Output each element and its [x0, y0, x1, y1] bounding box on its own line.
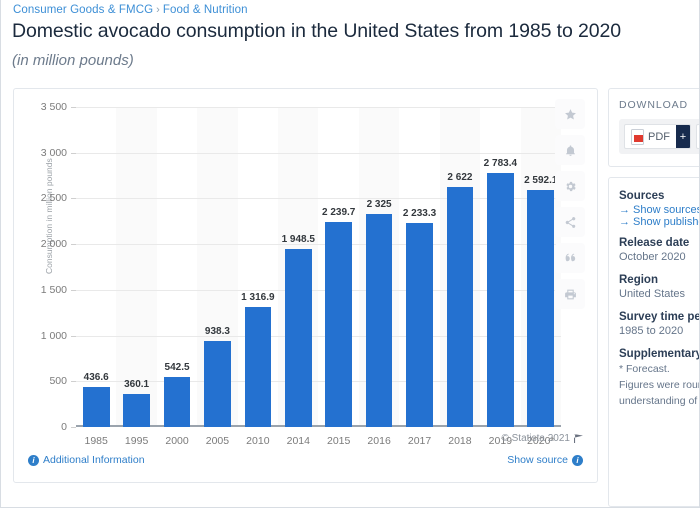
x-axis-tick: 2018: [448, 435, 471, 447]
region-heading: Region: [619, 274, 700, 286]
bar-value-label: 2 325: [367, 199, 392, 210]
download-card: DOWNLOAD PDF + XLS +: [608, 88, 700, 167]
bar-value-label: 2 622: [447, 172, 472, 183]
bar-column[interactable]: 2 3252016: [366, 214, 393, 427]
bar[interactable]: [245, 307, 272, 427]
x-axis-tick: 2010: [246, 435, 269, 447]
print-icon[interactable]: [555, 279, 585, 309]
bar-column[interactable]: 542.52000: [164, 377, 191, 427]
download-pdf-label: PDF: [648, 131, 670, 143]
bar-value-label: 2 783.4: [484, 158, 517, 169]
bar[interactable]: [527, 190, 554, 427]
gear-icon[interactable]: [555, 171, 585, 201]
y-axis-tick-mark: [71, 427, 76, 428]
bar-value-label: 2 239.7: [322, 207, 355, 218]
download-pdf-more[interactable]: +: [676, 125, 690, 148]
y-axis-tick: 3 000: [41, 147, 67, 159]
release-date-value: October 2020: [619, 251, 700, 263]
bar-column[interactable]: 2 783.42019: [487, 173, 514, 427]
supplementary-heading: Supplementary notes: [619, 348, 700, 360]
y-axis-tick: 1 000: [41, 330, 67, 342]
bar-column[interactable]: 2 239.72015: [325, 222, 352, 427]
pdf-file-icon: [631, 129, 644, 145]
breadcrumb-item-1[interactable]: Food & Nutrition: [163, 4, 248, 16]
arrow-right-icon-2: →: [619, 216, 630, 228]
bar-value-label: 360.1: [124, 379, 149, 390]
bar[interactable]: [285, 249, 312, 427]
y-axis-tick: 0: [61, 421, 67, 433]
show-source-label: Show source: [507, 454, 568, 466]
supplementary-line-1: Figures were rounded for a better: [619, 378, 700, 394]
y-axis-tick: 2 500: [41, 192, 67, 204]
bar[interactable]: [83, 387, 110, 427]
show-source-link[interactable]: Show source i: [507, 454, 583, 466]
x-axis-tick: 2015: [327, 435, 350, 447]
breadcrumb-item-0[interactable]: Consumer Goods & FMCG: [13, 4, 153, 16]
bar-value-label: 938.3: [205, 326, 230, 337]
bar[interactable]: [487, 173, 514, 427]
show-publisher-label: Show publisher: [633, 216, 700, 228]
additional-information-label: Additional Information: [43, 454, 145, 466]
bar-value-label: 436.6: [84, 372, 109, 383]
bar-value-label: 2 592.1: [524, 175, 557, 186]
page-subtitle: (in million pounds): [12, 52, 134, 69]
bar[interactable]: [406, 223, 433, 427]
y-axis-tick: 1 500: [41, 284, 67, 296]
supplementary-line-2: understanding of the statistic.: [619, 394, 700, 410]
star-icon[interactable]: [555, 99, 585, 129]
survey-period-heading: Survey time period: [619, 311, 700, 323]
page-title: Domestic avocado consumption in the Unit…: [12, 20, 621, 43]
y-axis-tick: 500: [49, 375, 67, 387]
bar[interactable]: [366, 214, 393, 427]
flag-icon: [574, 434, 583, 443]
release-date-heading: Release date: [619, 237, 700, 249]
supplementary-line-0: * Forecast.: [619, 362, 700, 378]
bar-series: 436.61985360.11995542.52000938.320051 31…: [76, 107, 561, 427]
bar[interactable]: [123, 394, 150, 427]
info-icon-source: i: [572, 455, 583, 466]
y-axis-tick: 2 000: [41, 238, 67, 250]
x-axis-tick: 1985: [85, 435, 108, 447]
bar-column[interactable]: 436.61985: [83, 387, 110, 427]
download-xls-button[interactable]: XLS +: [696, 124, 700, 149]
bar-column[interactable]: 360.11995: [123, 394, 150, 427]
copyright-text: © Statista 2021: [501, 433, 570, 444]
bar-value-label: 542.5: [165, 362, 190, 373]
info-icon: i: [28, 455, 39, 466]
x-axis-tick: 2017: [408, 435, 431, 447]
statista-copyright: © Statista 2021: [501, 433, 583, 444]
quote-icon[interactable]: [555, 243, 585, 273]
x-axis-tick: 2014: [287, 435, 310, 447]
show-sources-link[interactable]: →Show sources: [619, 204, 700, 216]
bar-column[interactable]: 938.32005: [204, 341, 231, 427]
bar-column[interactable]: 2 592.12020*: [527, 190, 554, 427]
x-axis-tick: 1995: [125, 435, 148, 447]
bar-column[interactable]: 1 948.52014: [285, 249, 312, 427]
y-axis-tick: 3 500: [41, 101, 67, 113]
download-buttons: PDF + XLS +: [619, 119, 700, 154]
x-axis-tick: 2000: [165, 435, 188, 447]
breadcrumb: Consumer Goods & FMCG›Food & Nutrition: [13, 4, 248, 16]
share-icon[interactable]: [555, 207, 585, 237]
download-pdf-button[interactable]: PDF +: [624, 124, 691, 149]
sources-heading: Sources: [619, 190, 700, 202]
bar-value-label: 2 233.3: [403, 208, 436, 219]
survey-period-value: 1985 to 2020: [619, 325, 700, 337]
plot-area: 05001 0001 5002 0002 5003 0003 500 436.6…: [76, 107, 561, 427]
additional-information-link[interactable]: i Additional Information: [28, 454, 145, 466]
chart-tool-rail: [555, 99, 589, 315]
x-axis-tick: 2016: [367, 435, 390, 447]
bar-column[interactable]: 1 316.92010: [245, 307, 272, 427]
breadcrumb-separator: ›: [156, 4, 160, 16]
arrow-right-icon: →: [619, 204, 630, 216]
bar-value-label: 1 948.5: [282, 234, 315, 245]
bar-column[interactable]: 2 6222018: [447, 187, 474, 427]
y-axis-label: Consumption in million pounds: [44, 158, 54, 274]
bar-value-label: 1 316.9: [241, 292, 274, 303]
show-publisher-link[interactable]: →Show publisher: [619, 216, 700, 228]
bar[interactable]: [204, 341, 231, 427]
statista-chart-page: Consumer Goods & FMCG›Food & Nutrition D…: [0, 0, 700, 508]
sidebar: DOWNLOAD PDF + XLS +: [608, 88, 700, 507]
chart-card: Consumption in million pounds 05001 0001…: [13, 88, 598, 483]
x-axis-tick: 2005: [206, 435, 229, 447]
bar[interactable]: [447, 187, 474, 427]
region-value: United States: [619, 288, 700, 300]
bar-column[interactable]: 2 233.32017: [406, 223, 433, 427]
bar[interactable]: [164, 377, 191, 427]
metadata-card: Sources →Show sources →Show publisher Re…: [608, 177, 700, 507]
bell-icon[interactable]: [555, 135, 585, 165]
bar[interactable]: [325, 222, 352, 427]
show-sources-label: Show sources: [633, 204, 700, 216]
download-title: DOWNLOAD: [619, 99, 700, 111]
